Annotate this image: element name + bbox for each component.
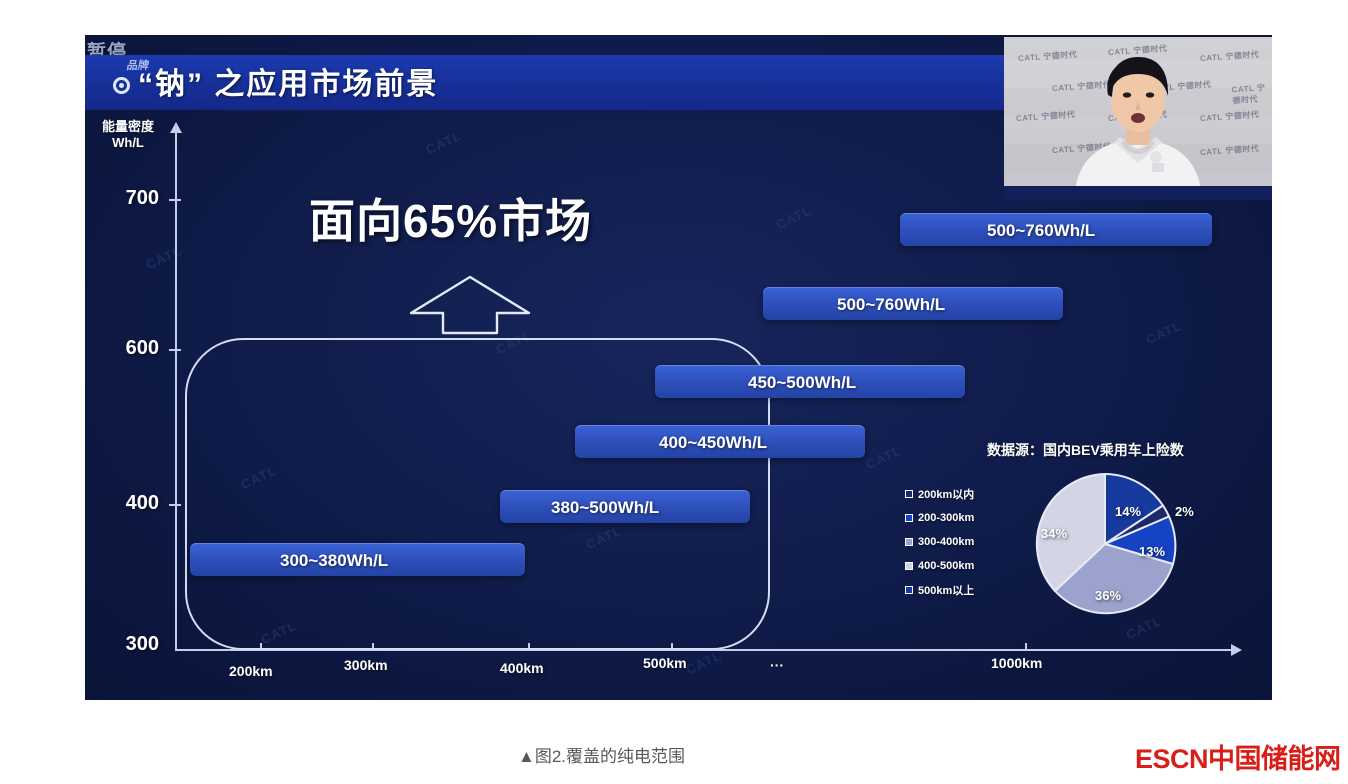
pie-chart-block: 数据源：国内BEV乘用车上险数 200km以内 200-300km 300-40… [905, 440, 1265, 660]
y-tick-mark [169, 504, 181, 506]
pie-value-14: 14% [1115, 504, 1141, 519]
x-tick-label-ellipsis: ··· [770, 657, 784, 673]
brand-logo-icon [113, 77, 130, 94]
pie-source-title: 数据源：国内BEV乘用车上险数 [987, 440, 1184, 460]
slide-title-superscript: 品牌 [126, 57, 151, 73]
x-tick-label-500km: 500km [643, 655, 687, 671]
legend-swatch-icon [905, 514, 913, 522]
y-tick-label-300: 300 [87, 633, 159, 656]
y-axis-title-line1: 能量密度 [87, 119, 169, 135]
bar-label-380-500: 380~500Wh/L [551, 498, 659, 518]
legend-item-500km-above[interactable]: 500km以上 [905, 578, 1017, 602]
legend-swatch-icon [905, 490, 913, 498]
pie-legend: 200km以内 200-300km 300-400km 400-500km 50… [905, 482, 1017, 602]
y-axis-title-line2: Wh/L [87, 135, 169, 151]
bar-label-450-500: 450~500Wh/L [748, 373, 856, 393]
bar-label-300-380: 300~380Wh/L [280, 551, 388, 571]
pie-value-34: 34% [1041, 526, 1067, 541]
x-tick-label-300km: 300km [344, 657, 388, 673]
legend-swatch-icon [905, 562, 913, 570]
x-tick-label-400km: 400km [500, 660, 544, 676]
bar-label-400-450: 400~450Wh/L [659, 433, 767, 453]
y-tick-label-400: 400 [87, 492, 159, 515]
legend-item-300-400km[interactable]: 300-400km [905, 530, 1017, 554]
catl-watermark: CATL [684, 648, 725, 678]
slide-title-keyword: 钠 [155, 68, 187, 101]
bar-label-500-760-mid: 500~760Wh/L [837, 295, 945, 315]
legend-item-200-300km[interactable]: 200-300km [905, 506, 1017, 530]
catl-watermark: CATL [144, 243, 185, 273]
y-axis-title: 能量密度 Wh/L [87, 119, 169, 151]
legend-label: 200km以内 [918, 486, 974, 502]
y-tick-label-700: 700 [87, 187, 159, 210]
y-tick-mark [169, 349, 181, 351]
presenter-video-pip[interactable]: CATL 宁德时代 CATL 宁德时代 CATL 宁德时代 CATL 宁德时代 … [1004, 37, 1272, 200]
x-tick-label-200km: 200km [229, 663, 273, 679]
y-tick-mark [169, 199, 181, 201]
pie-value-2: 2% [1175, 504, 1194, 519]
pie-value-13: 13% [1139, 544, 1165, 559]
legend-swatch-icon [905, 538, 913, 546]
legend-label: 300-400km [918, 536, 974, 548]
legend-item-400-500km[interactable]: 400-500km [905, 554, 1017, 578]
slide-canvas: CATL CATL CATL CATL CATL CATL CATL CATL … [85, 35, 1272, 700]
catl-watermark: CATL [864, 443, 905, 473]
slide-title-rest: 之应用市场前景 [214, 68, 438, 101]
presenter-figure [1004, 37, 1272, 200]
legend-label: 200-300km [918, 512, 974, 524]
escn-logo: ESCN中国储能网 [1135, 737, 1341, 776]
y-tick-label-600: 600 [87, 337, 159, 360]
catl-watermark: CATL [774, 203, 815, 233]
catl-watermark: CATL [424, 128, 465, 158]
video-bottom-bar [1004, 186, 1272, 200]
legend-label: 500km以上 [918, 582, 974, 598]
slide-title: “钠” 之应用市场前景 [138, 59, 438, 103]
catl-watermark: CATL [1144, 318, 1185, 348]
y-axis-line [175, 131, 177, 651]
up-arrow-icon [405, 273, 535, 335]
legend-item-200km-within[interactable]: 200km以内 [905, 482, 1017, 506]
headline-text: 面向65%市场 [309, 185, 592, 251]
pie-chart: 14% 2% 13% 36% 34% [1023, 466, 1193, 626]
legend-label: 400-500km [918, 560, 974, 572]
legend-swatch-icon [905, 586, 913, 594]
figure-caption: ▲图2.覆盖的纯电范围 [518, 742, 685, 767]
bar-label-500-760-top: 500~760Wh/L [987, 221, 1095, 241]
pie-value-36: 36% [1095, 588, 1121, 603]
